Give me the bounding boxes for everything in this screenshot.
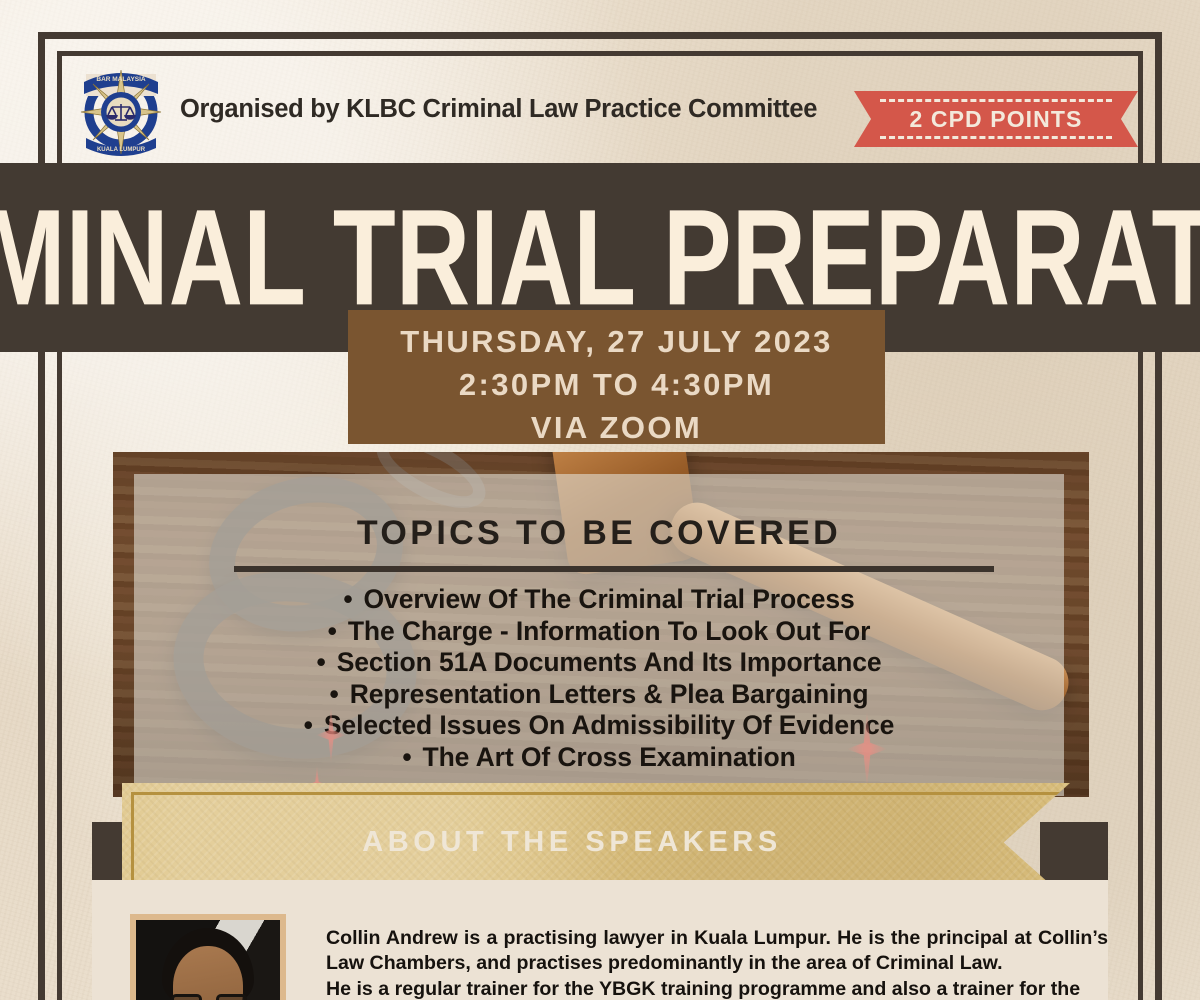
event-details-block: THURSDAY, 27 JULY 2023 2:30PM TO 4:30PM … <box>348 310 885 444</box>
avatar-lens-left <box>171 994 202 1000</box>
topics-heading: TOPICS TO BE COVERED <box>134 514 1064 553</box>
list-item: Overview Of The Criminal Trial Process <box>134 584 1064 616</box>
topics-list: Overview Of The Criminal Trial Process T… <box>134 584 1064 774</box>
bio-line: Collin Andrew is a practising lawyer in … <box>326 927 1032 949</box>
svg-text:KUALA LUMPUR: KUALA LUMPUR <box>97 147 146 153</box>
speaker-avatar <box>130 914 286 1000</box>
list-item: The Charge - Information To Look Out For <box>134 616 1064 648</box>
event-platform: VIA ZOOM <box>348 406 885 449</box>
bio-line: He is a regular trainer for the YBGK tra… <box>326 977 1108 1000</box>
avatar-lens-right <box>216 994 247 1000</box>
cpd-points-label: 2 CPD POINTS <box>910 106 1083 133</box>
poster-canvas: BAR MALAYSIA KUALA LUMPUR Organised by K… <box>0 0 1200 1000</box>
list-item: The Art Of Cross Examination <box>134 742 1064 774</box>
avatar-glasses-icon <box>169 994 249 1000</box>
page-title: CRIMINAL TRIAL PREPARATION <box>0 189 1200 326</box>
topics-divider <box>234 566 994 572</box>
speaker-bio-text: Collin Andrew is a practising lawyer in … <box>326 926 1108 1000</box>
topics-overlay-panel: TOPICS TO BE COVERED Overview Of The Cri… <box>134 474 1064 796</box>
cpd-points-badge: 2 CPD POINTS <box>854 91 1138 147</box>
event-date: THURSDAY, 27 JULY 2023 <box>348 320 885 363</box>
bar-malaysia-crest-icon: BAR MALAYSIA KUALA LUMPUR <box>78 60 164 158</box>
list-item: Selected Issues On Admissibility Of Evid… <box>134 710 1064 742</box>
banner-fold-right <box>1040 822 1108 880</box>
organiser-label: Organised by KLBC Criminal Law Practice … <box>180 95 817 124</box>
event-time: 2:30PM TO 4:30PM <box>348 363 885 406</box>
list-item: Section 51A Documents And Its Importance <box>134 647 1064 679</box>
svg-text:BAR MALAYSIA: BAR MALAYSIA <box>96 76 146 83</box>
list-item: Representation Letters & Plea Bargaining <box>134 679 1064 711</box>
about-speakers-title: ABOUT THE SPEAKERS <box>362 826 782 859</box>
